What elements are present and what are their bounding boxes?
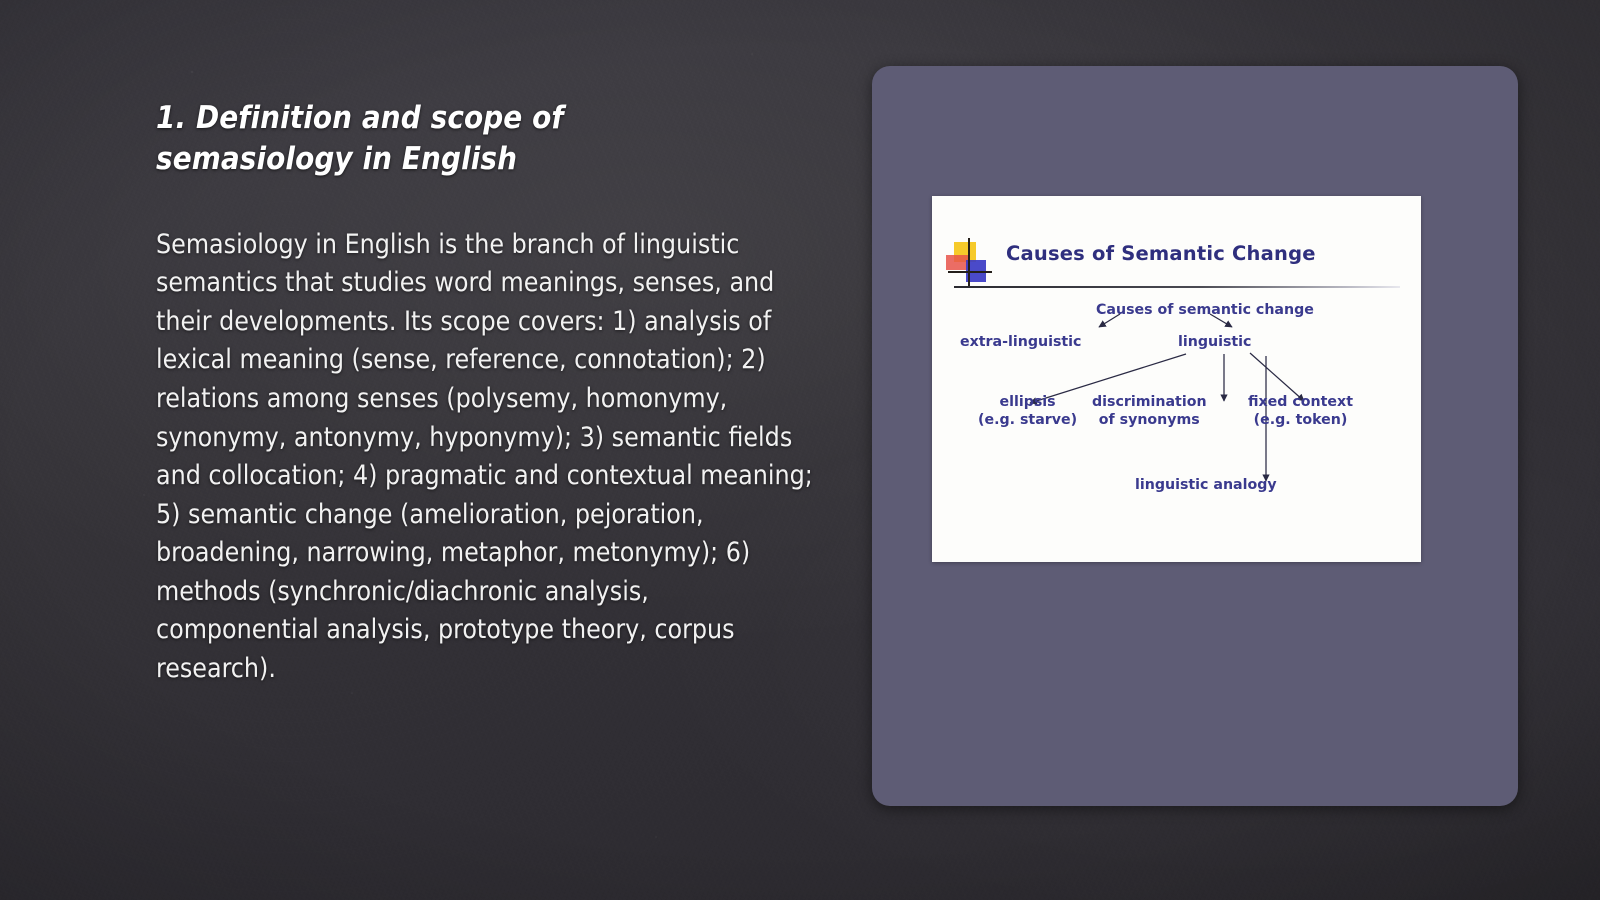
diagram-node-discrimination: discrimination of synonyms [1092, 393, 1207, 429]
diagram-node-discrimination-line1: discrimination [1092, 393, 1207, 411]
page-title: 1. Definition and scope of semasiology i… [156, 98, 626, 180]
diagram-node-ellipsis-line1: ellipsis [978, 393, 1077, 411]
text-column: 1. Definition and scope of semasiology i… [156, 98, 828, 688]
body-paragraph: Semasiology in English is the branch of … [156, 226, 816, 689]
diagram-node-linguistic-analogy: linguistic analogy [1135, 476, 1277, 494]
diagram-node-discrimination-line2: of synonyms [1092, 411, 1207, 429]
causes-diagram: Causes of semantic change extra-linguist… [932, 196, 1421, 562]
diagram-connectors [932, 196, 1421, 562]
image-card[interactable]: Causes of Semantic Change [872, 66, 1518, 806]
diagram-node-fixed-context-line2: (e.g. token) [1248, 411, 1353, 429]
diagram-node-ellipsis-line2: (e.g. starve) [978, 411, 1077, 429]
diagram-node-ellipsis: ellipsis (e.g. starve) [978, 393, 1077, 429]
diagram-node-fixed-context-line1: fixed context [1248, 393, 1353, 411]
diagram-node-fixed-context: fixed context (e.g. token) [1248, 393, 1353, 429]
diagram-node-root: Causes of semantic change [1096, 301, 1314, 319]
diagram-node-linguistic: linguistic [1178, 333, 1251, 351]
embedded-slide-image[interactable]: Causes of Semantic Change [932, 196, 1421, 562]
diagram-node-extra-linguistic: extra-linguistic [960, 333, 1081, 351]
